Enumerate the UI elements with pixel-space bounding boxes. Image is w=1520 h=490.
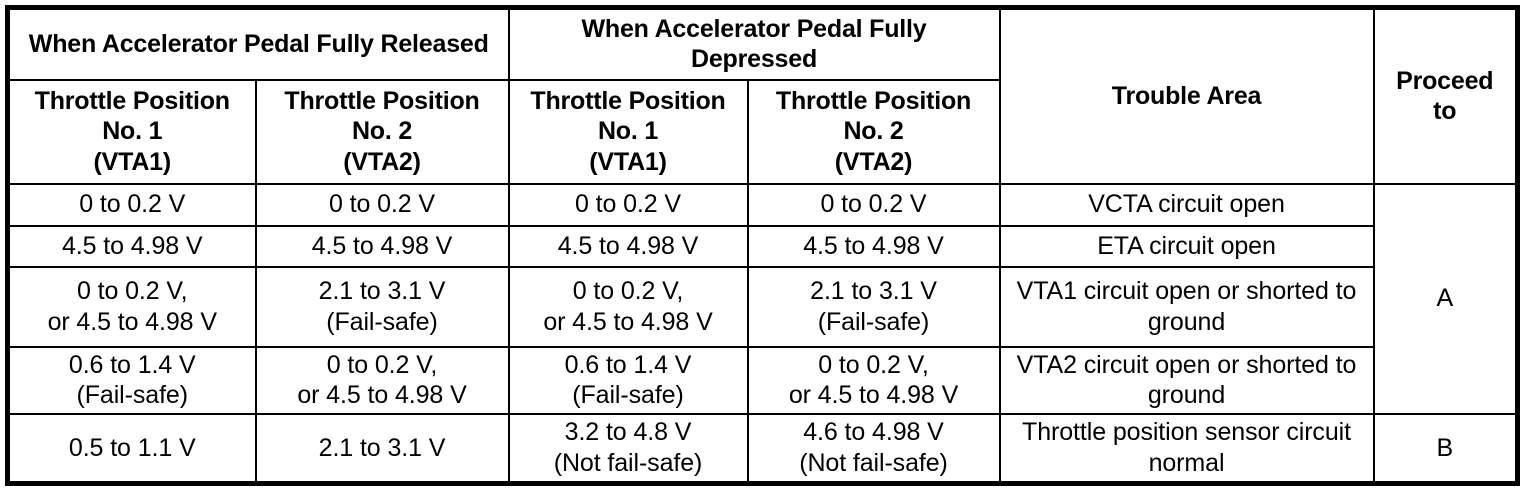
cell-text-line1: 0 to 0.2 V	[16, 189, 249, 220]
header-proceed-to-label-line2: to	[1381, 96, 1510, 127]
header-depressed-vta1-line1: Throttle Position	[516, 86, 741, 117]
header-released-vta1-line2: No. 1	[16, 116, 249, 147]
cell-text-line2: or 4.5 to 4.98 V	[16, 307, 249, 338]
cell-text-line1: 2.1 to 3.1 V	[755, 276, 993, 307]
header-group-released-label: When Accelerator Pedal Fully Released	[16, 29, 502, 60]
cell-text-line2: (Fail-safe)	[516, 380, 741, 411]
header-released-vta1: Throttle Position No. 1 (VTA1)	[8, 80, 256, 184]
cell-released-vta2: 0 to 0.2 V	[256, 184, 509, 226]
header-trouble-area: Trouble Area	[1000, 8, 1374, 184]
table-row: 4.5 to 4.98 V 4.5 to 4.98 V 4.5 to 4.98 …	[8, 226, 1518, 267]
cell-text-line2: or 4.5 to 4.98 V	[755, 380, 993, 411]
cell-released-vta1: 0.5 to 1.1 V	[8, 414, 256, 484]
cell-released-vta1: 0 to 0.2 V, or 4.5 to 4.98 V	[8, 267, 256, 347]
proceed-group-label: A	[1381, 283, 1510, 314]
header-trouble-area-label: Trouble Area	[1007, 81, 1367, 112]
header-group-pedal-depressed: When Accelerator Pedal Fully Depressed	[509, 8, 1000, 80]
cell-text-line2: (Fail-safe)	[755, 307, 993, 338]
cell-text-line1: 0 to 0.2 V	[263, 189, 502, 220]
header-depressed-vta1-line2: No. 1	[516, 116, 741, 147]
header-group-depressed-label-line1: When Accelerator Pedal Fully	[516, 14, 993, 45]
header-proceed-to: Proceed to	[1374, 8, 1518, 184]
header-group-row: When Accelerator Pedal Fully Released Wh…	[8, 8, 1518, 80]
cell-text-line1: 0 to 0.2 V	[516, 189, 741, 220]
header-depressed-vta1: Throttle Position No. 1 (VTA1)	[509, 80, 748, 184]
cell-text-line1: 4.5 to 4.98 V	[516, 231, 741, 262]
cell-text-line1: ETA circuit open	[1007, 231, 1367, 262]
cell-depressed-vta2: 4.5 to 4.98 V	[748, 226, 1000, 267]
header-released-vta1-line3: (VTA1)	[16, 147, 249, 178]
cell-depressed-vta2: 2.1 to 3.1 V (Fail-safe)	[748, 267, 1000, 347]
header-released-vta2-line1: Throttle Position	[263, 86, 502, 117]
cell-text-line2: ground	[1007, 307, 1367, 338]
cell-trouble-area: VTA1 circuit open or shorted to ground	[1000, 267, 1374, 347]
cell-trouble-area: VCTA circuit open	[1000, 184, 1374, 226]
table-row: 0.6 to 1.4 V (Fail-safe) 0 to 0.2 V, or …	[8, 347, 1518, 414]
cell-depressed-vta2: 0 to 0.2 V	[748, 184, 1000, 226]
cell-depressed-vta2: 0 to 0.2 V, or 4.5 to 4.98 V	[748, 347, 1000, 414]
cell-released-vta2: 2.1 to 3.1 V	[256, 414, 509, 484]
cell-text-line1: VTA2 circuit open or shorted to	[1007, 350, 1367, 381]
cell-text-line1: 3.2 to 4.8 V	[516, 417, 741, 448]
cell-text-line2: (Not fail-safe)	[755, 448, 993, 479]
header-depressed-vta1-line3: (VTA1)	[516, 147, 741, 178]
cell-text-line1: 0 to 0.2 V,	[755, 350, 993, 381]
cell-depressed-vta1: 3.2 to 4.8 V (Not fail-safe)	[509, 414, 748, 484]
cell-released-vta1: 0.6 to 1.4 V (Fail-safe)	[8, 347, 256, 414]
cell-text-line1: 0 to 0.2 V,	[516, 276, 741, 307]
cell-proceed-to-a: A	[1374, 184, 1518, 414]
cell-text-line1: 4.6 to 4.98 V	[755, 417, 993, 448]
cell-depressed-vta2: 4.6 to 4.98 V (Not fail-safe)	[748, 414, 1000, 484]
cell-text-line2: or 4.5 to 4.98 V	[516, 307, 741, 338]
header-group-pedal-released: When Accelerator Pedal Fully Released	[8, 8, 509, 80]
cell-depressed-vta1: 0 to 0.2 V, or 4.5 to 4.98 V	[509, 267, 748, 347]
cell-text-line1: VTA1 circuit open or shorted to	[1007, 276, 1367, 307]
table-header: When Accelerator Pedal Fully Released Wh…	[8, 8, 1518, 184]
proceed-group-label: B	[1381, 433, 1510, 464]
table-row: 0 to 0.2 V 0 to 0.2 V 0 to 0.2 V 0 to 0.…	[8, 184, 1518, 226]
header-group-depressed-label-line2: Depressed	[516, 44, 993, 75]
header-proceed-to-label-line1: Proceed	[1381, 66, 1510, 97]
cell-text-line2: ground	[1007, 380, 1367, 411]
table-row: 0 to 0.2 V, or 4.5 to 4.98 V 2.1 to 3.1 …	[8, 267, 1518, 347]
cell-released-vta1: 4.5 to 4.98 V	[8, 226, 256, 267]
header-released-vta2: Throttle Position No. 2 (VTA2)	[256, 80, 509, 184]
header-released-vta1-line1: Throttle Position	[16, 86, 249, 117]
cell-trouble-area: VTA2 circuit open or shorted to ground	[1000, 347, 1374, 414]
header-released-vta2-line3: (VTA2)	[263, 147, 502, 178]
cell-text-line1: 0 to 0.2 V,	[16, 276, 249, 307]
cell-text-line2: (Fail-safe)	[16, 380, 249, 411]
cell-released-vta2: 4.5 to 4.98 V	[256, 226, 509, 267]
header-depressed-vta2-line1: Throttle Position	[755, 86, 993, 117]
table-row: 0.5 to 1.1 V 2.1 to 3.1 V 3.2 to 4.8 V (…	[8, 414, 1518, 484]
table-body: 0 to 0.2 V 0 to 0.2 V 0 to 0.2 V 0 to 0.…	[8, 184, 1518, 484]
cell-text-line1: VCTA circuit open	[1007, 189, 1367, 220]
cell-depressed-vta1: 4.5 to 4.98 V	[509, 226, 748, 267]
cell-text-line1: 4.5 to 4.98 V	[263, 231, 502, 262]
cell-text-line1: Throttle position sensor circuit	[1007, 417, 1367, 448]
cell-released-vta2: 0 to 0.2 V, or 4.5 to 4.98 V	[256, 347, 509, 414]
header-released-vta2-line2: No. 2	[263, 116, 502, 147]
cell-text-line1: 2.1 to 3.1 V	[263, 276, 502, 307]
cell-depressed-vta1: 0 to 0.2 V	[509, 184, 748, 226]
cell-text-line2: (Fail-safe)	[263, 307, 502, 338]
cell-released-vta1: 0 to 0.2 V	[8, 184, 256, 226]
cell-text-line1: 4.5 to 4.98 V	[755, 231, 993, 262]
cell-text-line1: 0.5 to 1.1 V	[16, 433, 249, 464]
header-depressed-vta2-line2: No. 2	[755, 116, 993, 147]
cell-trouble-area: Throttle position sensor circuit normal	[1000, 414, 1374, 484]
cell-text-line1: 4.5 to 4.98 V	[16, 231, 249, 262]
cell-text-line1: 0.6 to 1.4 V	[16, 350, 249, 381]
header-depressed-vta2-line3: (VTA2)	[755, 147, 993, 178]
cell-text-line2: (Not fail-safe)	[516, 448, 741, 479]
cell-text-line1: 2.1 to 3.1 V	[263, 433, 502, 464]
cell-text-line2: normal	[1007, 448, 1367, 479]
cell-text-line1: 0.6 to 1.4 V	[516, 350, 741, 381]
header-depressed-vta2: Throttle Position No. 2 (VTA2)	[748, 80, 1000, 184]
throttle-position-diagnostic-table: When Accelerator Pedal Fully Released Wh…	[5, 5, 1520, 486]
diagnostic-table-container: When Accelerator Pedal Fully Released Wh…	[5, 5, 1515, 479]
cell-proceed-to-b: B	[1374, 414, 1518, 484]
cell-text-line2: or 4.5 to 4.98 V	[263, 380, 502, 411]
cell-text-line1: 0 to 0.2 V,	[263, 350, 502, 381]
cell-trouble-area: ETA circuit open	[1000, 226, 1374, 267]
cell-depressed-vta1: 0.6 to 1.4 V (Fail-safe)	[509, 347, 748, 414]
cell-text-line1: 0 to 0.2 V	[755, 189, 993, 220]
cell-released-vta2: 2.1 to 3.1 V (Fail-safe)	[256, 267, 509, 347]
